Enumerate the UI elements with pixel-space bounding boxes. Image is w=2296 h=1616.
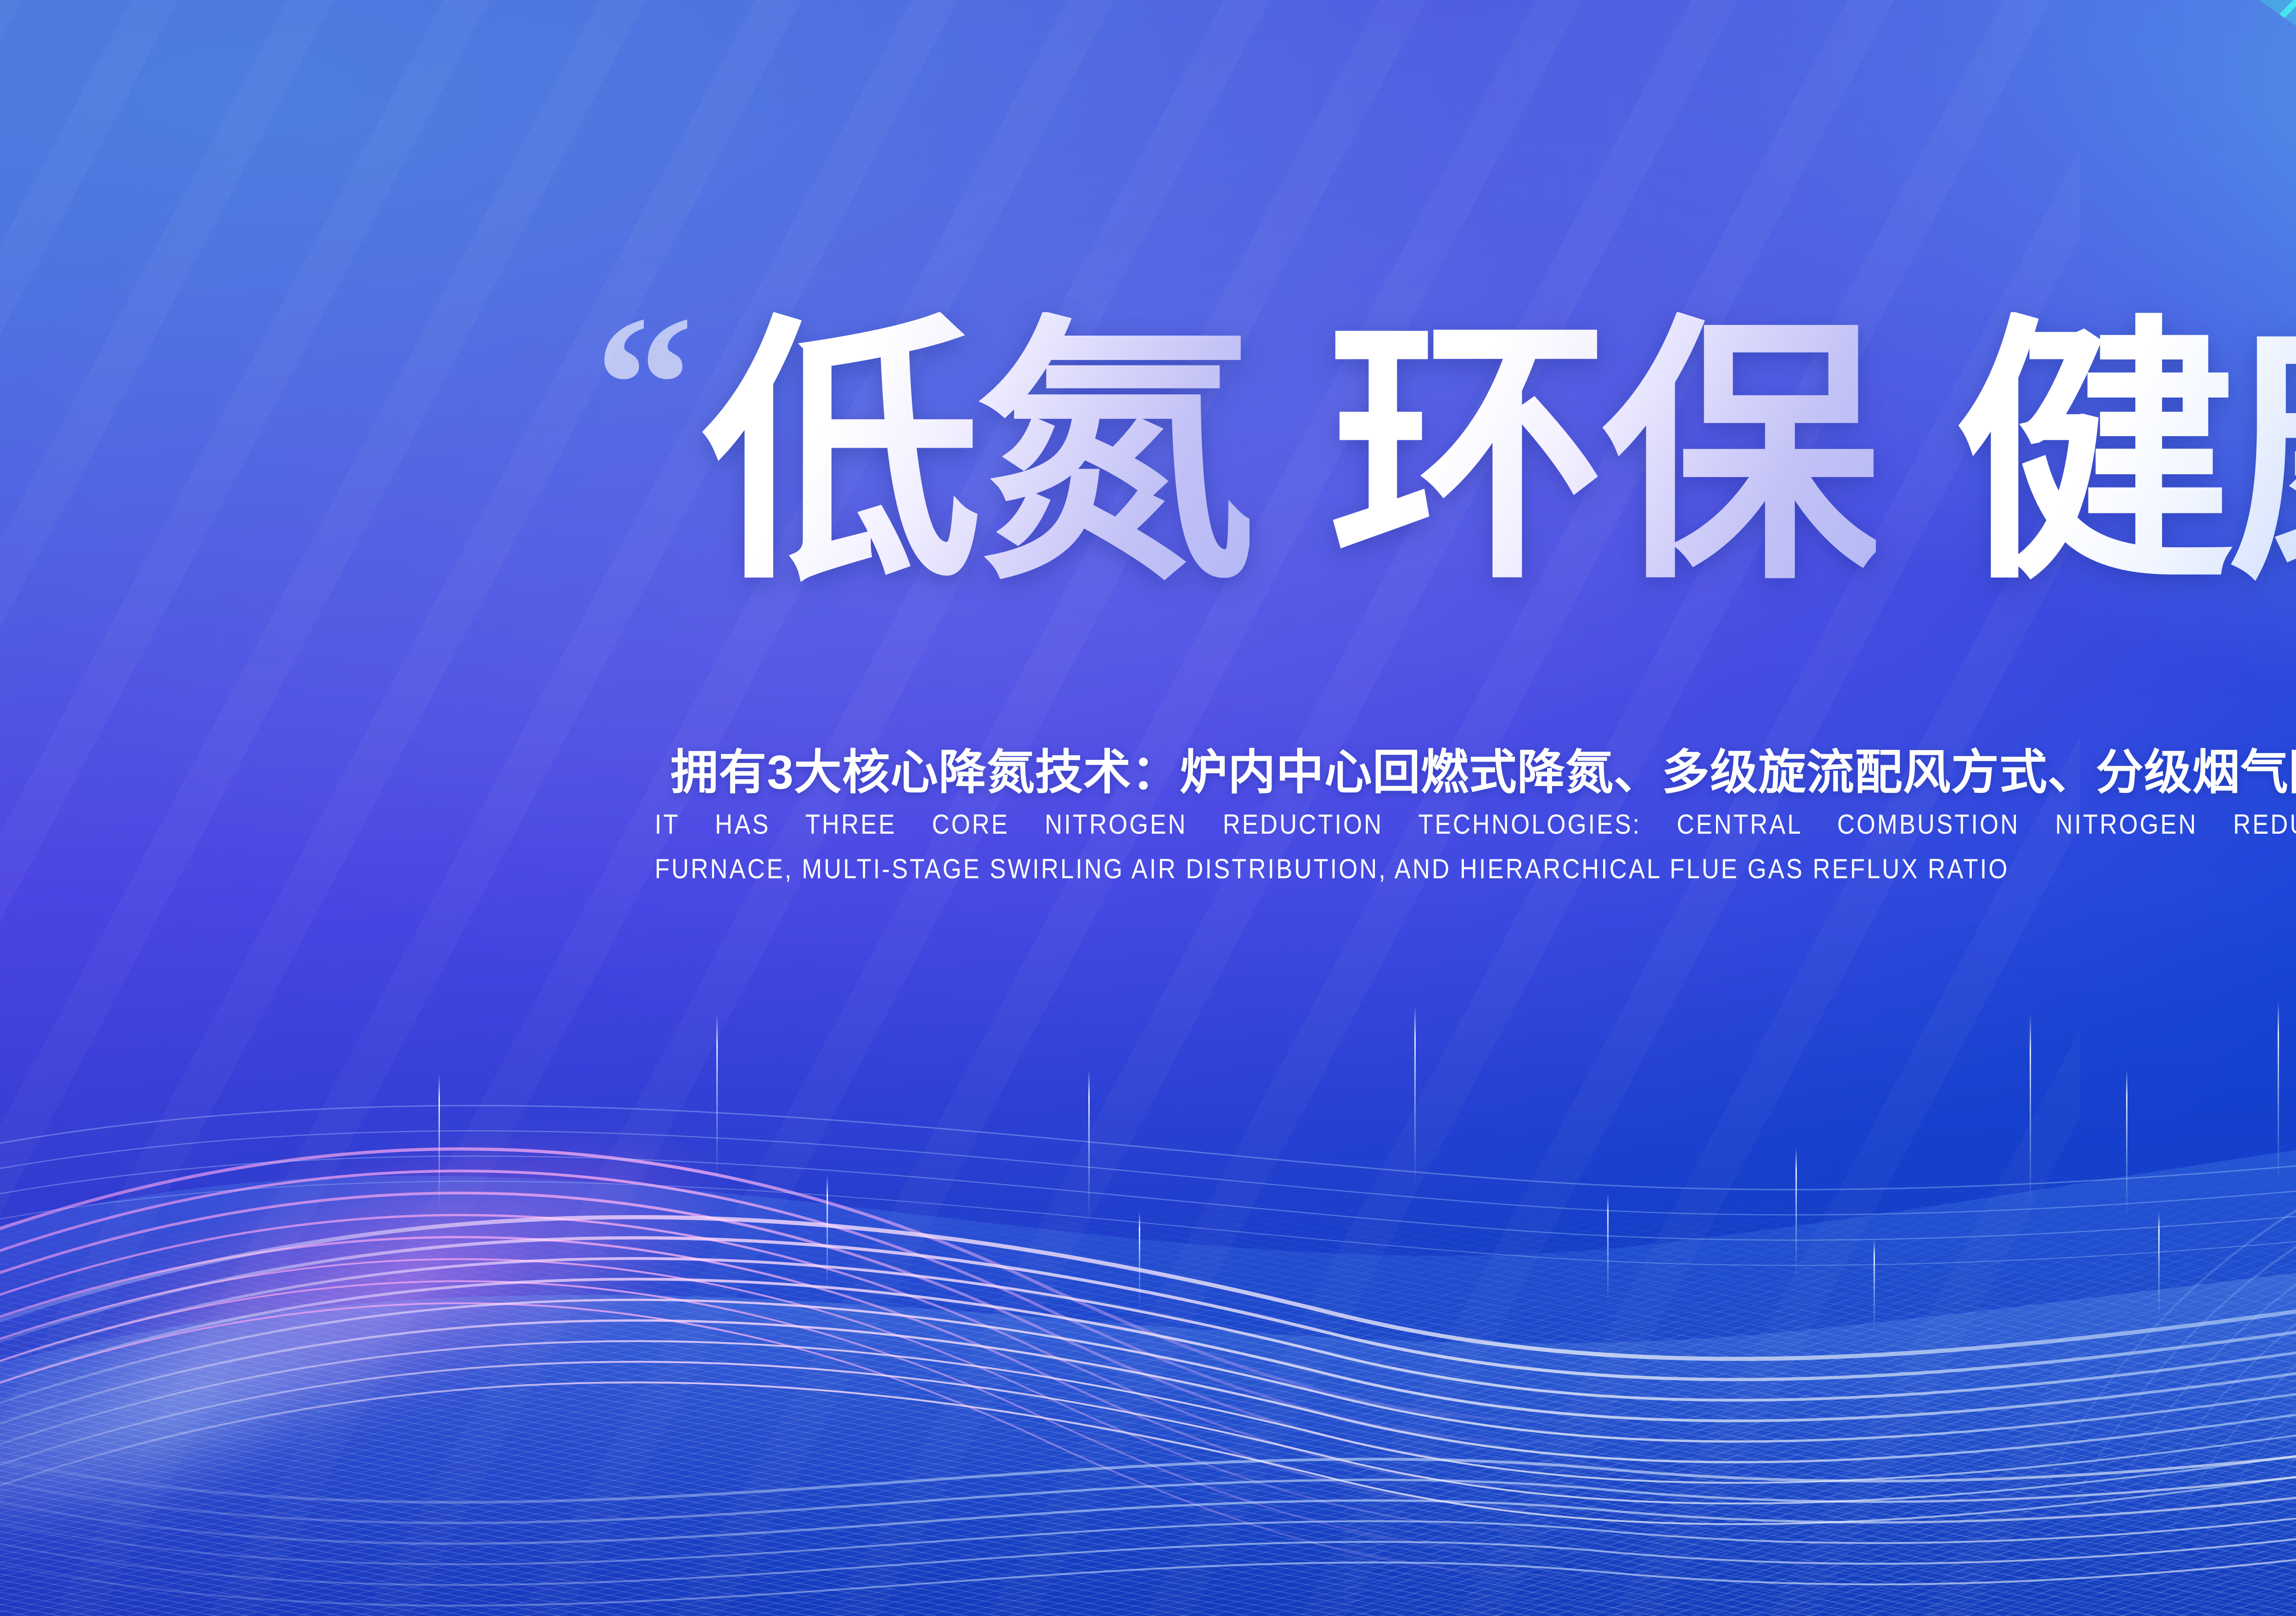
subtitle-block: 拥有3大核心降氮技术：炉内中心回燃式降氮、多级旋流配风方式、分级烟气回流配比。 … xyxy=(0,744,2296,891)
wave-hatch-right xyxy=(1344,1042,2296,1616)
subtitle-english-line1: IT HAS THREE CORE NITROGEN REDUCTION TEC… xyxy=(654,802,2296,847)
promo-banner: 科技-共赢 SCIENCE AND TECHNOLOGY AND WIN-WIN… xyxy=(0,0,2296,1616)
subtitle-chinese: 拥有3大核心降氮技术：炉内中心回燃式降氮、多级旋流配风方式、分级烟气回流配比。 xyxy=(0,744,2296,802)
subtitle-english: IT HAS THREE CORE NITROGEN REDUCTION TEC… xyxy=(654,802,2296,891)
wave-decoration xyxy=(0,904,2296,1616)
subtitle-english-line2: FURNACE, MULTI-STAGE SWIRLING AIR DISTRI… xyxy=(654,847,2296,891)
